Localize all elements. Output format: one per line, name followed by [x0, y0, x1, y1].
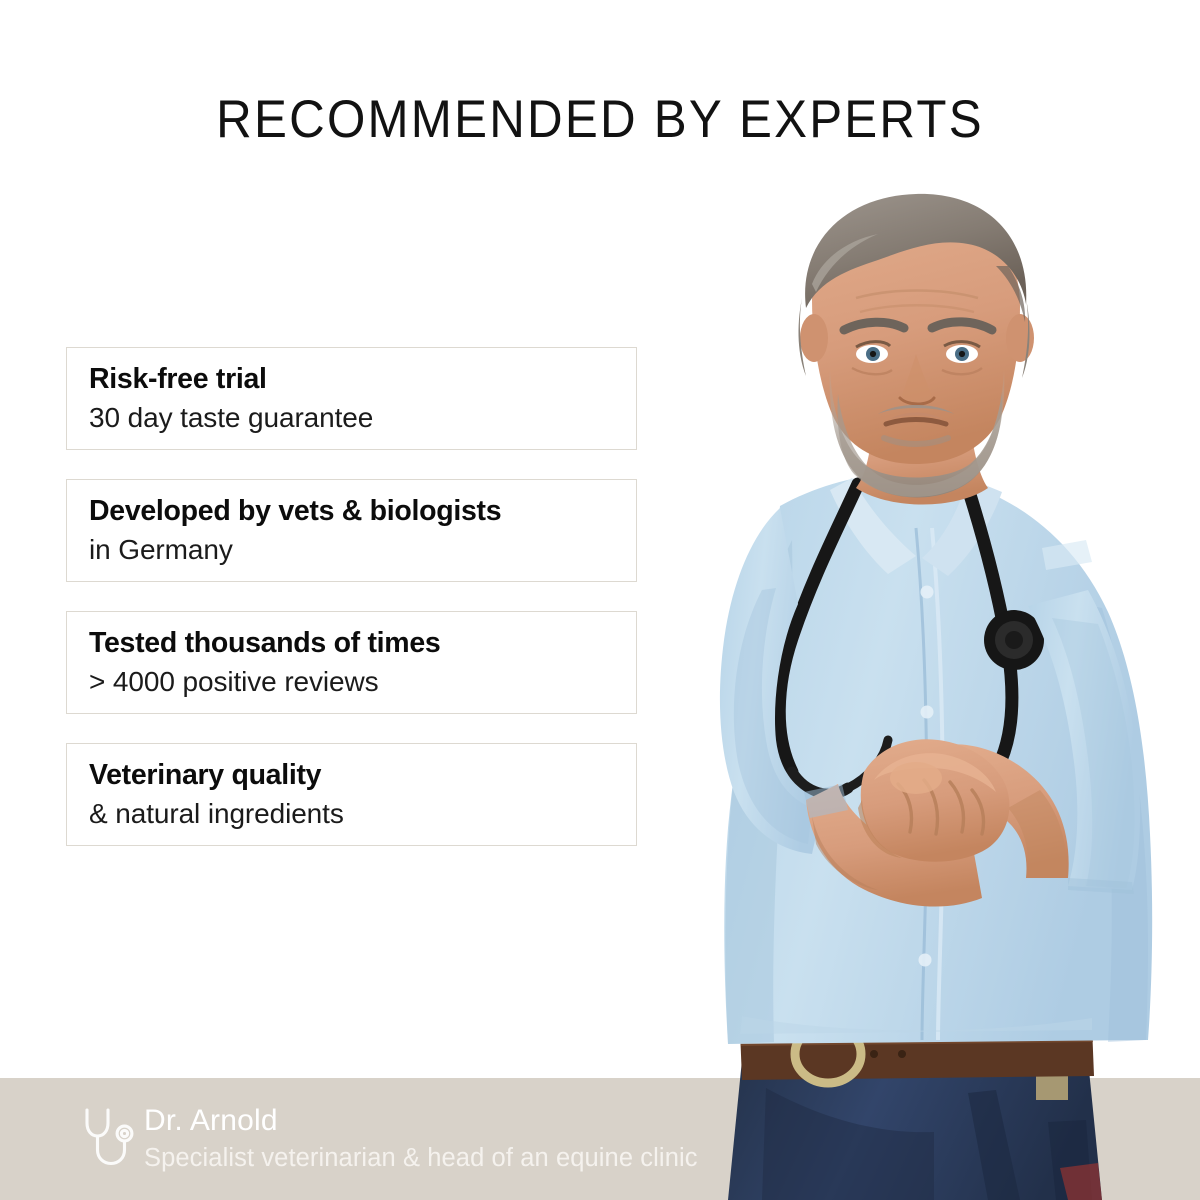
promo-graphic: RECOMMENDED BY EXPERTS Risk-free trial 3… [0, 0, 1200, 1200]
veterinarian-photo [616, 188, 1200, 1200]
doctor-name: Dr. Arnold [144, 1103, 698, 1140]
credit-text-block: Dr. Arnold Specialist veterinarian & hea… [144, 1103, 698, 1175]
feature-title: Veterinary quality [89, 758, 636, 792]
feature-box-risk-free-trial: Risk-free trial 30 day taste guarantee [66, 347, 637, 450]
feature-box-developed-by-vets: Developed by vets & biologists in German… [66, 479, 637, 582]
feature-title: Risk-free trial [89, 362, 636, 396]
feature-subtitle: in Germany [89, 531, 636, 569]
feature-subtitle: & natural ingredients [89, 795, 636, 833]
page-title: RECOMMENDED BY EXPERTS [42, 92, 1158, 148]
feature-subtitle: 30 day taste guarantee [89, 399, 636, 437]
feature-list: Risk-free trial 30 day taste guarantee D… [66, 347, 637, 846]
feature-box-tested-thousands-of-times: Tested thousands of times > 4000 positiv… [66, 611, 637, 714]
doctor-role: Specialist veterinarian & head of an equ… [144, 1142, 698, 1175]
stethoscope-icon [80, 1106, 136, 1168]
feature-subtitle: > 4000 positive reviews [89, 663, 636, 701]
feature-title: Developed by vets & biologists [89, 494, 636, 528]
feature-title: Tested thousands of times [89, 626, 636, 660]
feature-box-veterinary-quality: Veterinary quality & natural ingredients [66, 743, 637, 846]
